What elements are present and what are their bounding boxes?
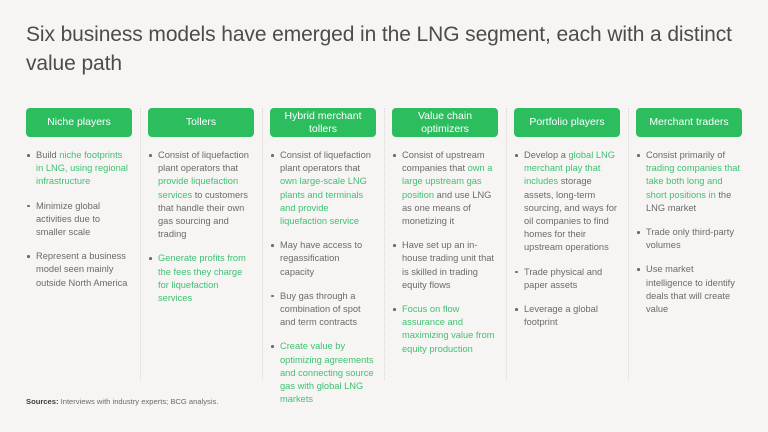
column-divider: [384, 108, 386, 380]
sources-note: Sources: Interviews with industry expert…: [26, 396, 218, 407]
model-bullet-item: Represent a business model seen mainly o…: [26, 250, 132, 290]
highlighted-text: Generate profits from the fees they char…: [158, 253, 246, 303]
model-header-chip[interactable]: Value chain optimizers: [392, 108, 498, 137]
model-column: Value chain optimizersConsist of upstrea…: [392, 108, 498, 417]
model-bullet-item: Consist of upstream companies that own a…: [392, 149, 498, 228]
model-header-label: Value chain optimizers: [396, 110, 494, 136]
model-bullet-list: Consist of upstream companies that own a…: [392, 149, 498, 356]
model-bullet-list: Consist of liquefaction plant operators …: [148, 149, 254, 305]
model-bullet-item: Have set up an in-house trading unit tha…: [392, 239, 498, 292]
model-bullet-item: Build niche footprints in LNG, using reg…: [26, 149, 132, 189]
highlighted-text: own large-scale LNG plants and terminals…: [280, 176, 367, 226]
model-header-chip[interactable]: Hybrid merchant tollers: [270, 108, 376, 137]
model-header-chip[interactable]: Niche players: [26, 108, 132, 137]
bullet-text: Buy gas through a combination of spot an…: [280, 291, 361, 327]
model-bullet-item: Consist of liquefaction plant operators …: [148, 149, 254, 241]
model-column: Niche playersBuild niche footprints in L…: [26, 108, 132, 417]
model-bullet-item: Create value by optimizing agreements an…: [270, 340, 376, 406]
bullet-text: Consist primarily of: [646, 150, 725, 160]
bullet-text: Consist of liquefaction plant operators …: [158, 150, 249, 173]
model-bullet-item: Trade physical and paper assets: [514, 266, 620, 292]
bullet-text: May have access to regassification capac…: [280, 240, 362, 276]
model-column: Merchant tradersConsist primarily of tra…: [636, 108, 742, 417]
bullet-text: Minimize global activities due to smalle…: [36, 201, 100, 237]
model-bullet-item: Consist of liquefaction plant operators …: [270, 149, 376, 228]
bullet-text: storage assets, long-term sourcing, and …: [524, 176, 617, 252]
model-header-label: Hybrid merchant tollers: [274, 110, 372, 136]
model-bullet-item: Develop a global LNG merchant play that …: [514, 149, 620, 255]
bullet-text: Build: [36, 150, 59, 160]
model-bullet-list: Build niche footprints in LNG, using reg…: [26, 149, 132, 290]
page-title: Six business models have emerged in the …: [26, 20, 742, 78]
model-bullet-item: Use market intelligence to identify deal…: [636, 263, 742, 316]
model-bullet-list: Consist primarily of trading companies t…: [636, 149, 742, 316]
model-bullet-list: Consist of liquefaction plant operators …: [270, 149, 376, 406]
column-divider: [262, 108, 264, 380]
model-columns: Niche playersBuild niche footprints in L…: [26, 108, 744, 417]
model-header-chip[interactable]: Tollers: [148, 108, 254, 137]
model-bullet-list: Develop a global LNG merchant play that …: [514, 149, 620, 329]
model-header-label: Niche players: [47, 116, 111, 129]
slide-canvas: Six business models have emerged in the …: [0, 0, 768, 432]
model-bullet-item: Minimize global activities due to smalle…: [26, 200, 132, 240]
model-bullet-item: May have access to regassification capac…: [270, 239, 376, 279]
model-column: Hybrid merchant tollersConsist of liquef…: [270, 108, 376, 417]
model-header-label: Portfolio players: [529, 116, 604, 129]
column-divider: [628, 108, 630, 380]
model-bullet-item: Consist primarily of trading companies t…: [636, 149, 742, 215]
bullet-text: Consist of liquefaction plant operators …: [280, 150, 371, 173]
bullet-text: Represent a business model seen mainly o…: [36, 251, 127, 287]
bullet-text: Leverage a global footprint: [524, 304, 598, 327]
model-column: Portfolio playersDevelop a global LNG me…: [514, 108, 620, 417]
model-bullet-item: Trade only third-party volumes: [636, 226, 742, 252]
sources-text: Interviews with industry experts; BCG an…: [59, 397, 219, 406]
highlighted-text: Create value by optimizing agreements an…: [280, 341, 374, 404]
model-column: TollersConsist of liquefaction plant ope…: [148, 108, 254, 417]
bullet-text: Have set up an in-house trading unit tha…: [402, 240, 494, 290]
column-divider: [140, 108, 142, 380]
sources-label: Sources:: [26, 397, 59, 406]
column-divider: [506, 108, 508, 380]
highlighted-text: Focus on flow assurance and maximizing v…: [402, 304, 494, 354]
bullet-text: Develop a: [524, 150, 568, 160]
bullet-text: Use market intelligence to identify deal…: [646, 264, 735, 314]
model-bullet-item: Generate profits from the fees they char…: [148, 252, 254, 305]
model-header-label: Tollers: [186, 116, 216, 129]
model-header-chip[interactable]: Portfolio players: [514, 108, 620, 137]
model-bullet-item: Leverage a global footprint: [514, 303, 620, 329]
model-header-label: Merchant traders: [649, 116, 728, 129]
model-header-chip[interactable]: Merchant traders: [636, 108, 742, 137]
bullet-text: Trade physical and paper assets: [524, 267, 602, 290]
bullet-text: Trade only third-party volumes: [646, 227, 734, 250]
model-bullet-item: Buy gas through a combination of spot an…: [270, 290, 376, 330]
model-bullet-item: Focus on flow assurance and maximizing v…: [392, 303, 498, 356]
